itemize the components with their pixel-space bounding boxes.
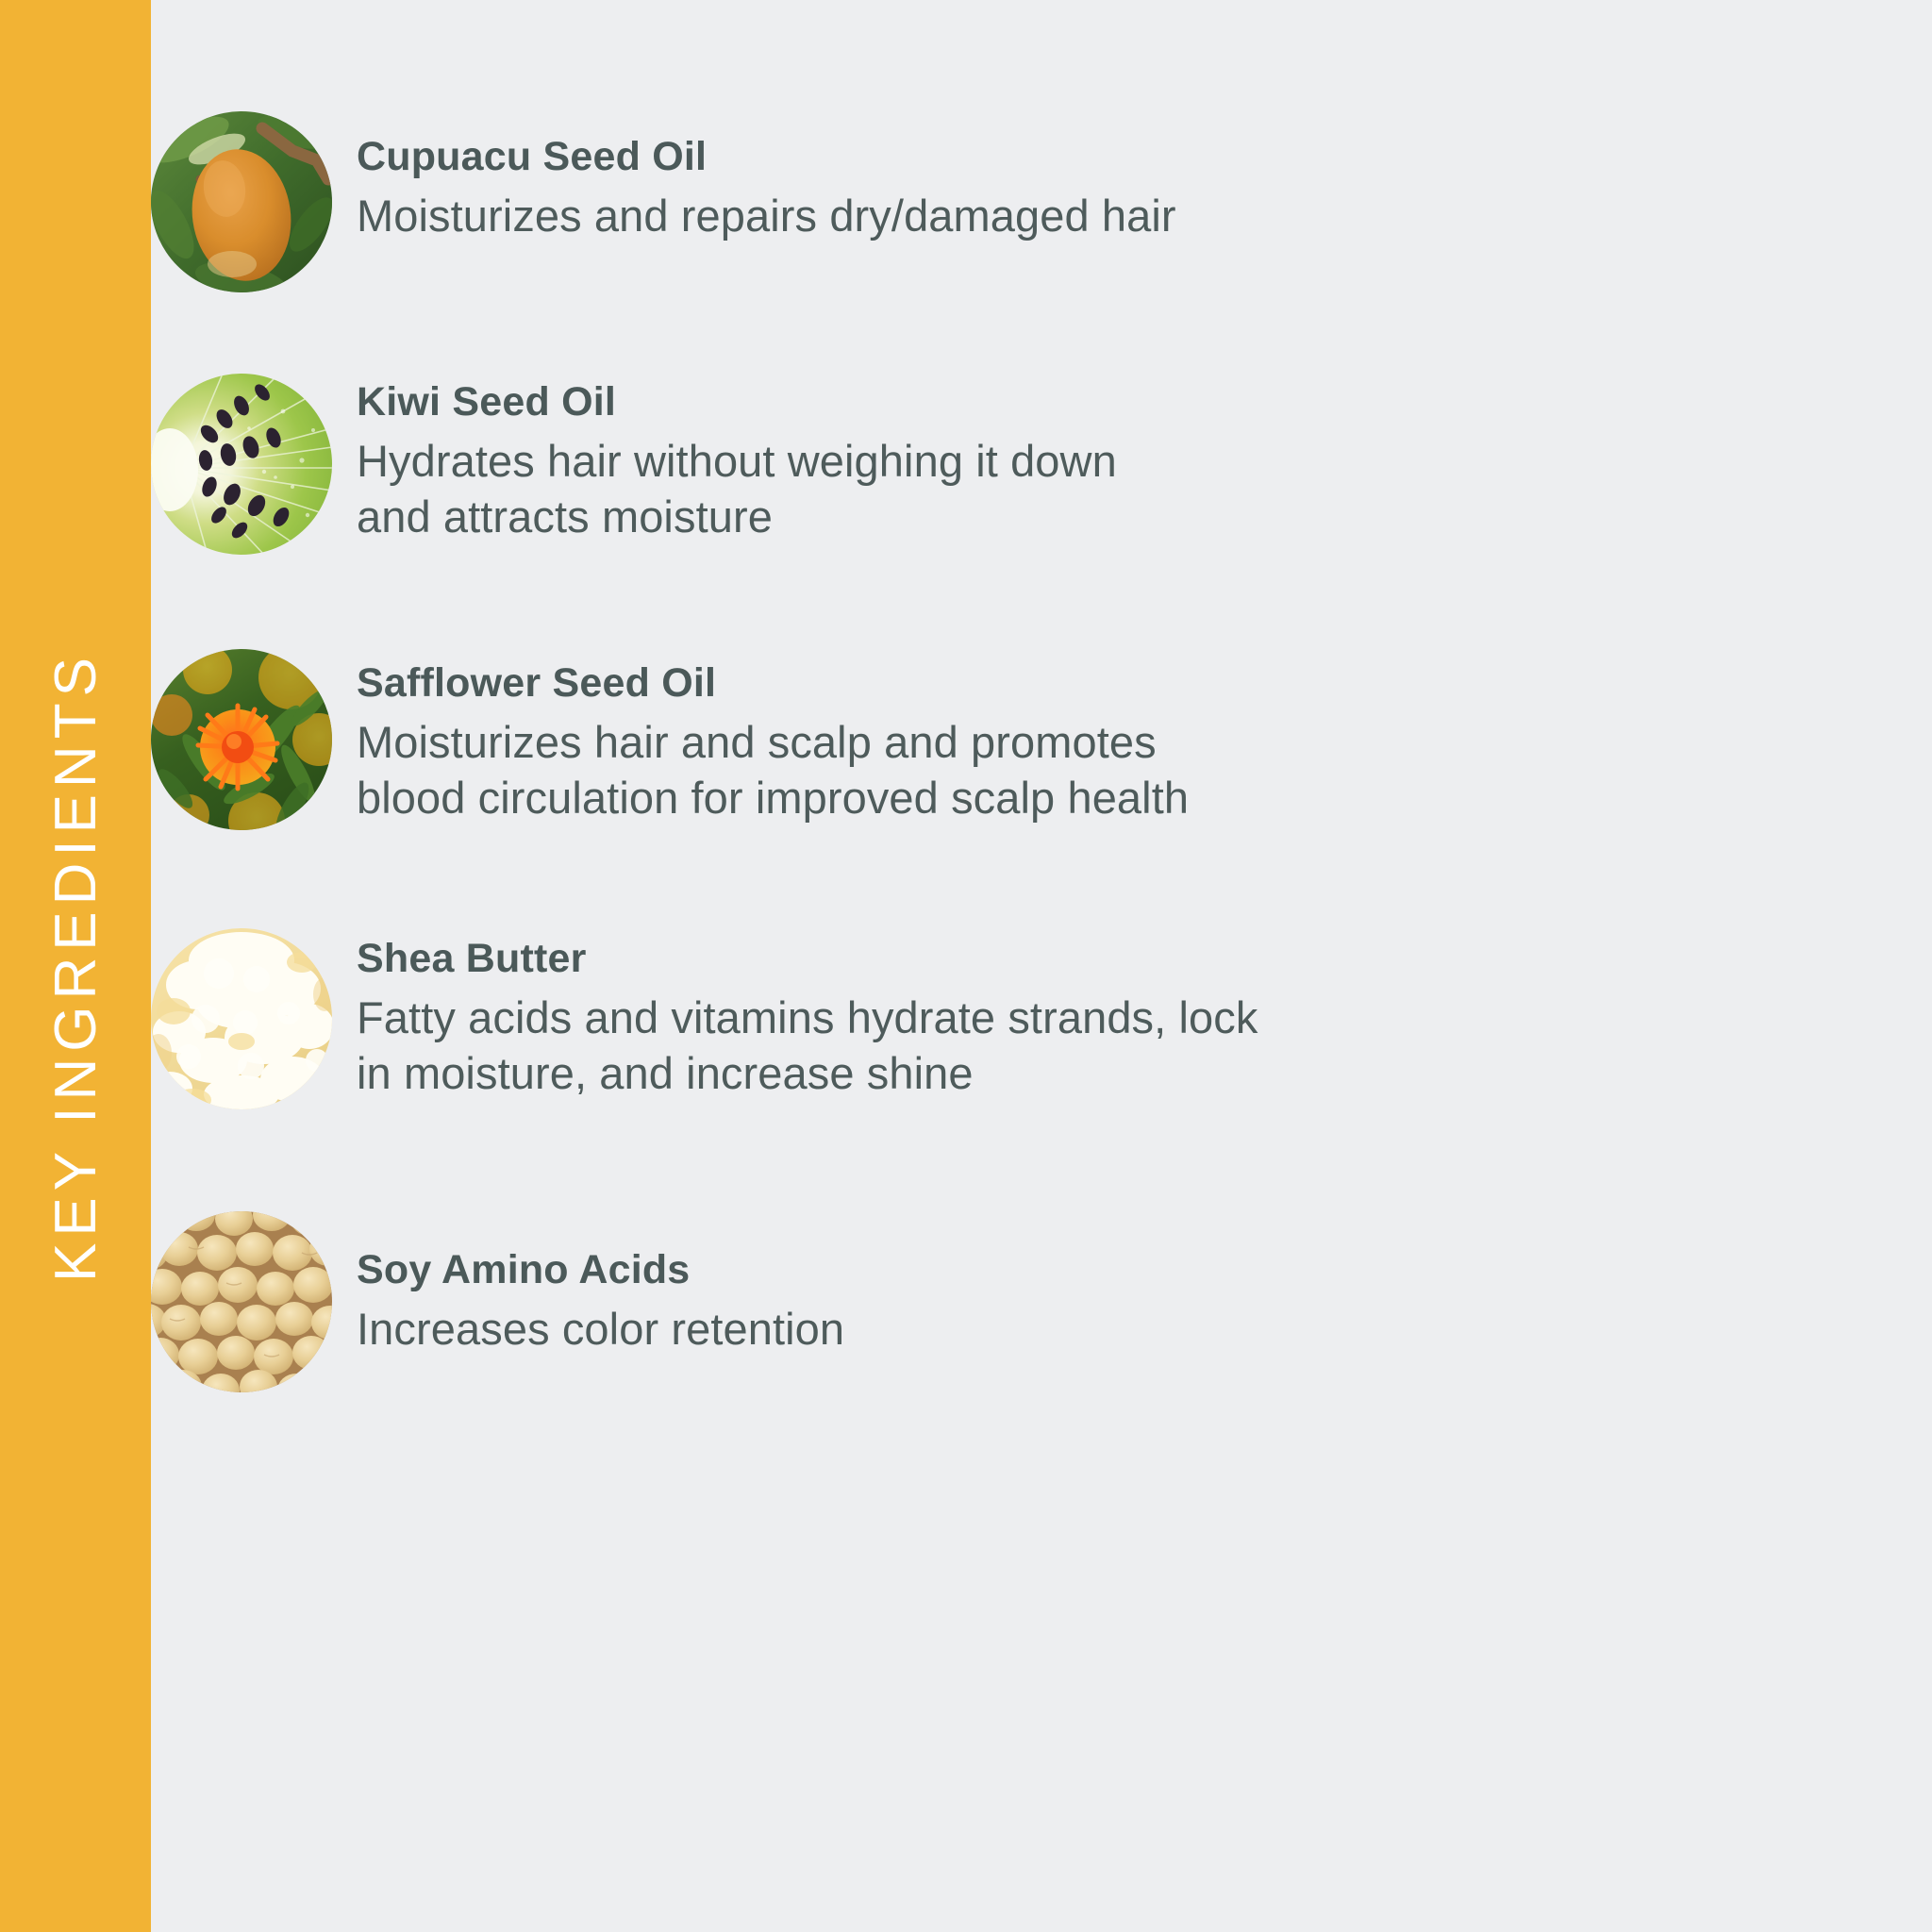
description-line: Moisturizes hair and scalp and promotes <box>357 714 1828 770</box>
soybeans-photo <box>151 1211 332 1392</box>
ingredient-title: Cupuacu Seed Oil <box>357 134 1790 179</box>
ingredient-title: Safflower Seed Oil <box>357 660 1828 706</box>
description-line: Hydrates hair without weighing it down <box>357 433 1790 489</box>
ingredient-description: Fatty acids and vitamins hydrate strands… <box>357 990 1885 1101</box>
ingredient-list: Cupuacu Seed Oil Moisturizes and repairs… <box>151 0 1932 1932</box>
description-line: Increases color retention <box>357 1301 1772 1357</box>
kiwi-slice-photo <box>151 374 332 555</box>
sidebar-title: KEY INGREDIENTS <box>42 651 109 1282</box>
description-line: in moisture, and increase shine <box>357 1045 1885 1101</box>
ingredient-title: Soy Amino Acids <box>357 1247 1772 1292</box>
ingredient-description: Moisturizes hair and scalp and promotes … <box>357 714 1828 825</box>
safflower-flowers-photo <box>151 649 332 830</box>
ingredient-title: Shea Butter <box>357 936 1885 981</box>
key-ingredients-infographic: KEY INGREDIENTS <box>0 0 1932 1932</box>
cupuacu-fruit-photo <box>151 111 332 292</box>
description-line: blood circulation for improved scalp hea… <box>357 770 1828 825</box>
description-line: Moisturizes and repairs dry/damaged hair <box>357 188 1790 243</box>
ingredient-description: Increases color retention <box>357 1301 1772 1357</box>
shea-butter-photo <box>151 928 332 1109</box>
sidebar-banner: KEY INGREDIENTS <box>0 0 151 1932</box>
ingredient-description: Moisturizes and repairs dry/damaged hair <box>357 188 1790 243</box>
description-line: and attracts moisture <box>357 489 1790 544</box>
description-line: Fatty acids and vitamins hydrate strands… <box>357 990 1885 1045</box>
ingredient-title: Kiwi Seed Oil <box>357 379 1790 425</box>
ingredient-description: Hydrates hair without weighing it down a… <box>357 433 1790 544</box>
